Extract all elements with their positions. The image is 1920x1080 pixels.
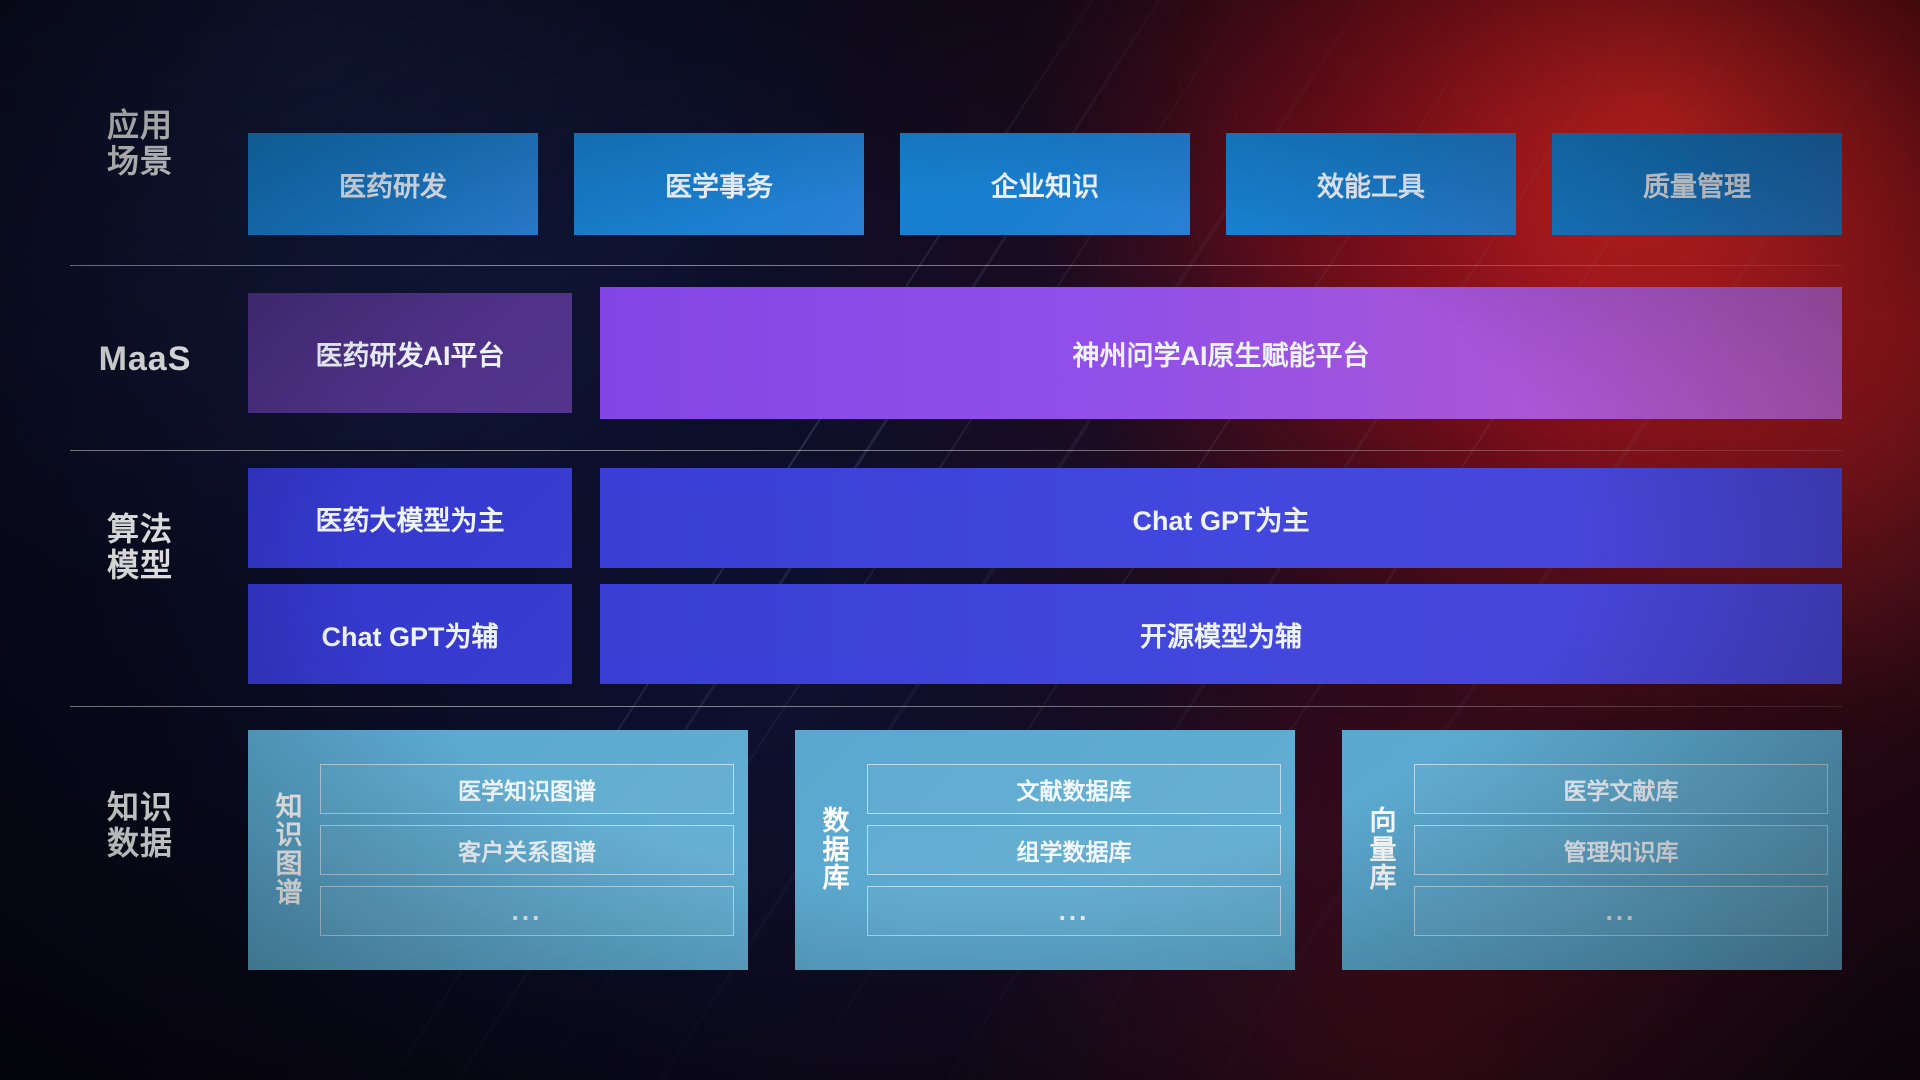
knowledge-group-database[interactable]: 数据库 文献数据库 组学数据库 ...: [795, 730, 1295, 970]
knowledge-group-2-items: 文献数据库 组学数据库 ...: [867, 764, 1281, 936]
maas-platform-card-label: 医药研发AI平台: [316, 334, 505, 373]
knowledge-group-2-title: 数据库: [805, 807, 867, 893]
knowledge-item[interactable]: ...: [1414, 886, 1828, 936]
scenario-card-2-label: 医学事务: [665, 165, 773, 204]
algo-secondary-right-label: 开源模型为辅: [1140, 615, 1302, 654]
row-label-knowledge-line-2: 数据: [80, 826, 200, 862]
knowledge-group-3-items: 医学文献库 管理知识库 ...: [1414, 764, 1828, 936]
divider-3: [70, 706, 1842, 707]
algo-primary-right-label: Chat GPT为主: [1132, 499, 1309, 538]
divider-1: [70, 265, 1842, 266]
scenario-card-1-label: 医药研发: [339, 165, 447, 204]
algo-primary-left-label: 医药大模型为主: [316, 499, 505, 538]
knowledge-item[interactable]: ...: [320, 886, 734, 936]
knowledge-item[interactable]: ...: [867, 886, 1281, 936]
knowledge-item[interactable]: 客户关系图谱: [320, 825, 734, 875]
row-label-maas-text: MaaS: [80, 340, 210, 378]
row-label-line-1: 应用: [80, 108, 200, 144]
scenario-card-4[interactable]: 效能工具: [1226, 133, 1516, 235]
knowledge-group-vector-store[interactable]: 向量库 医学文献库 管理知识库 ...: [1342, 730, 1842, 970]
row-label-knowledge-line-1: 知识: [80, 790, 200, 826]
knowledge-group-1-items: 医学知识图谱 客户关系图谱 ...: [320, 764, 734, 936]
knowledge-group-knowledge-graph[interactable]: 知识图谱 医学知识图谱 客户关系图谱 ...: [248, 730, 748, 970]
algo-secondary-left-card[interactable]: Chat GPT为辅: [248, 584, 572, 684]
row-label-line-2: 场景: [80, 144, 200, 180]
scenario-card-2[interactable]: 医学事务: [574, 133, 864, 235]
algo-primary-left-card[interactable]: 医药大模型为主: [248, 468, 572, 568]
row-label-algorithm-model: 算法 模型: [80, 512, 200, 584]
scenario-card-5[interactable]: 质量管理: [1552, 133, 1842, 235]
row-label-knowledge-data: 知识 数据: [80, 790, 200, 862]
algo-primary-right-bar[interactable]: Chat GPT为主: [600, 468, 1842, 568]
divider-2: [70, 450, 1842, 451]
row-label-algo-line-1: 算法: [80, 512, 200, 548]
knowledge-group-3-title: 向量库: [1352, 807, 1414, 893]
maas-platform-card[interactable]: 医药研发AI平台: [248, 293, 572, 413]
scenario-card-4-label: 效能工具: [1317, 165, 1425, 204]
maas-enablement-platform-bar[interactable]: 神州问学AI原生赋能平台: [600, 287, 1842, 419]
diagram-canvas: 应用 场景 医药研发 医学事务 企业知识 效能工具 质量管理 MaaS 医药研发…: [0, 0, 1920, 1080]
scenario-card-3[interactable]: 企业知识: [900, 133, 1190, 235]
row-label-application-scenario: 应用 场景: [80, 108, 200, 180]
maas-enablement-platform-label: 神州问学AI原生赋能平台: [1073, 334, 1370, 373]
row-label-maas: MaaS: [80, 340, 210, 378]
knowledge-item[interactable]: 医学知识图谱: [320, 764, 734, 814]
scenario-card-1[interactable]: 医药研发: [248, 133, 538, 235]
algo-secondary-left-label: Chat GPT为辅: [321, 615, 498, 654]
scenario-card-5-label: 质量管理: [1643, 165, 1751, 204]
algo-secondary-right-bar[interactable]: 开源模型为辅: [600, 584, 1842, 684]
knowledge-item[interactable]: 管理知识库: [1414, 825, 1828, 875]
knowledge-group-1-title: 知识图谱: [258, 793, 320, 907]
scenario-card-3-label: 企业知识: [991, 165, 1099, 204]
knowledge-item[interactable]: 组学数据库: [867, 825, 1281, 875]
row-label-algo-line-2: 模型: [80, 548, 200, 584]
knowledge-item[interactable]: 医学文献库: [1414, 764, 1828, 814]
knowledge-item[interactable]: 文献数据库: [867, 764, 1281, 814]
